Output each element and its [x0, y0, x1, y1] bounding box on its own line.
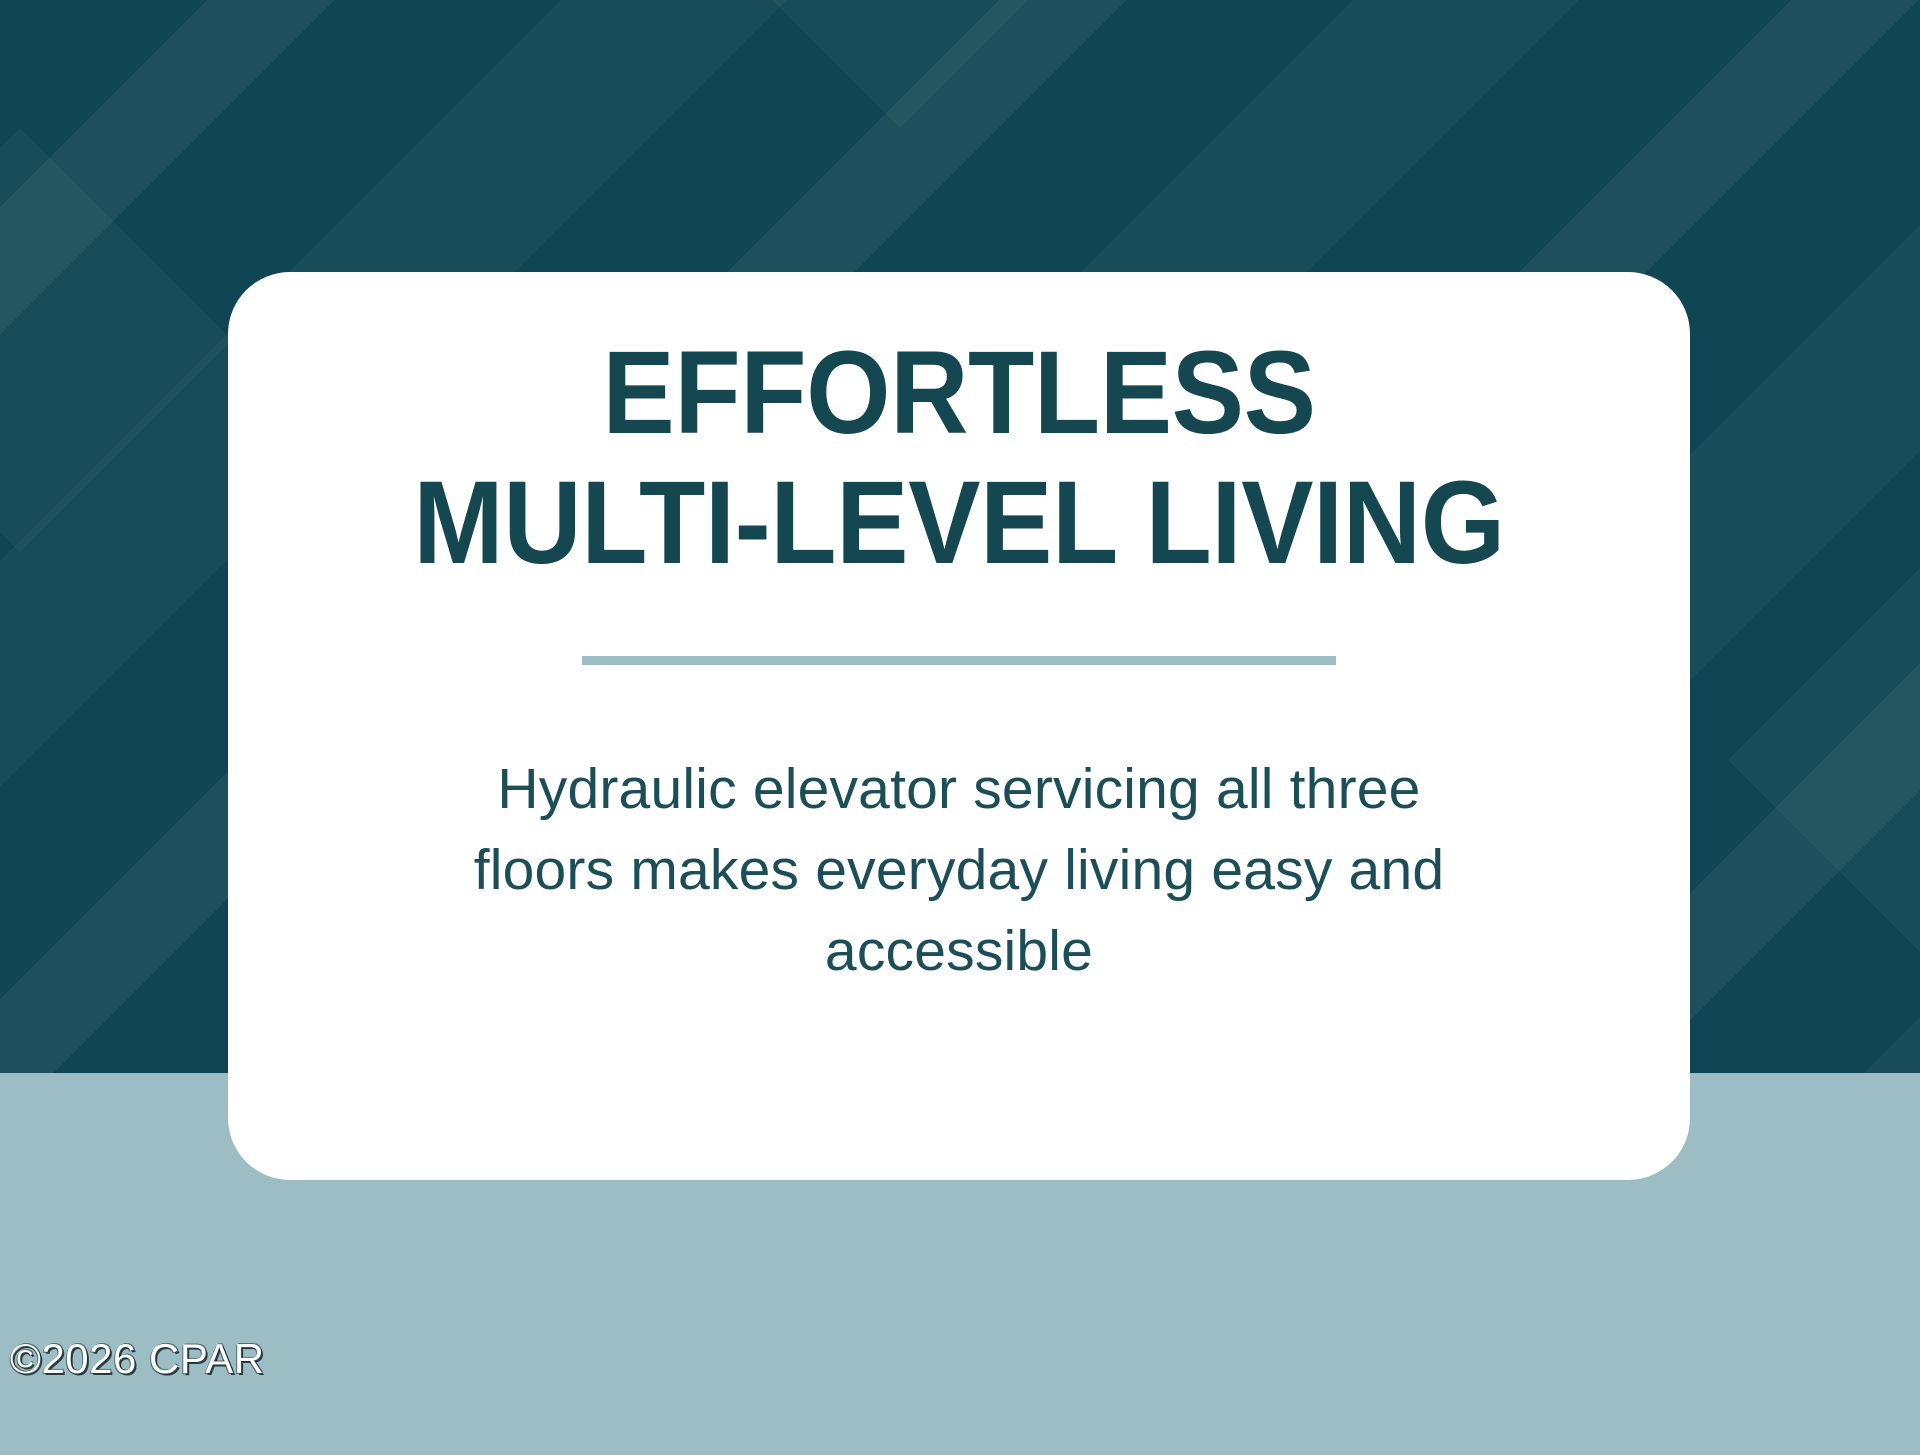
divider	[582, 656, 1336, 665]
content-card: EFFORTLESS MULTI-LEVEL LIVING Hydraulic …	[228, 272, 1690, 1180]
headline-line-2: MULTI-LEVEL LIVING	[375, 464, 1543, 582]
headline-line-1: EFFORTLESS	[375, 334, 1543, 452]
copyright-notice: ©2026 CPAR	[10, 1338, 265, 1380]
promo-slide: EFFORTLESS MULTI-LEVEL LIVING Hydraulic …	[0, 0, 1920, 1455]
headline: EFFORTLESS MULTI-LEVEL LIVING	[375, 334, 1543, 582]
body-text: Hydraulic elevator servicing all three f…	[444, 749, 1474, 992]
